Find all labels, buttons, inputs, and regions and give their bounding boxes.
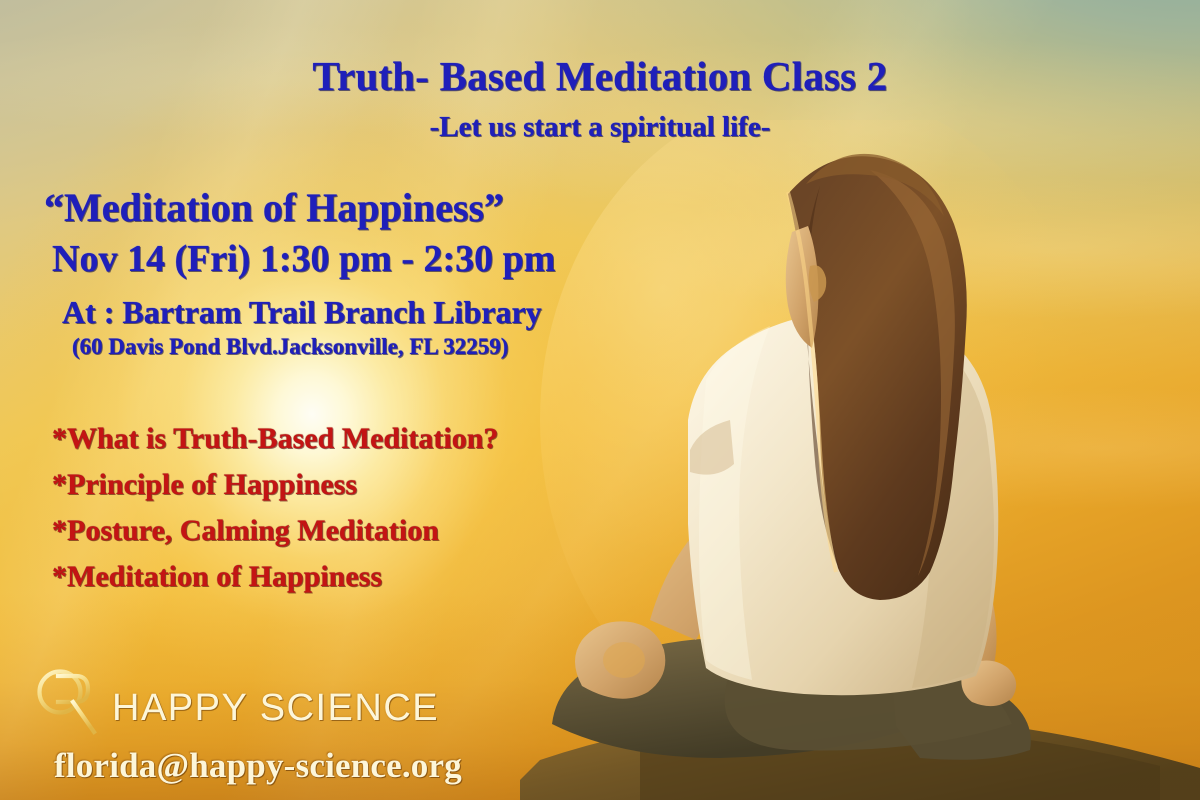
contact-email: florida@happy-science.org	[54, 748, 462, 783]
session-headline: “Meditation of Happiness”	[44, 188, 504, 228]
event-datetime: Nov 14 (Fri) 1:30 pm - 2:30 pm	[52, 240, 555, 278]
woman-meditating-lotus-pose-at-sunset-icon	[520, 120, 1200, 800]
event-venue: At : Bartram Trail Branch Library	[62, 296, 542, 328]
brand-lockup: HAPPY SCIENCE	[28, 662, 439, 740]
list-item: *Posture, Calming Meditation	[52, 516, 498, 546]
list-item: *Meditation of Happiness	[52, 562, 498, 592]
event-address: (60 Davis Pond Blvd.Jacksonville, FL 322…	[72, 335, 508, 358]
event-poster: Truth- Based Meditation Class 2 -Let us …	[0, 0, 1200, 800]
brand-name: HAPPY SCIENCE	[112, 687, 439, 730]
happy-science-r-circle-logo-icon	[28, 662, 108, 740]
page-title: Truth- Based Meditation Class 2	[313, 56, 888, 97]
poster-subtitle: -Let us start a spiritual life-	[430, 113, 771, 142]
list-item: *What is Truth-Based Meditation?	[52, 424, 498, 454]
topics-list: *What is Truth-Based Meditation? *Princi…	[52, 424, 498, 608]
list-item: *Principle of Happiness	[52, 470, 498, 500]
